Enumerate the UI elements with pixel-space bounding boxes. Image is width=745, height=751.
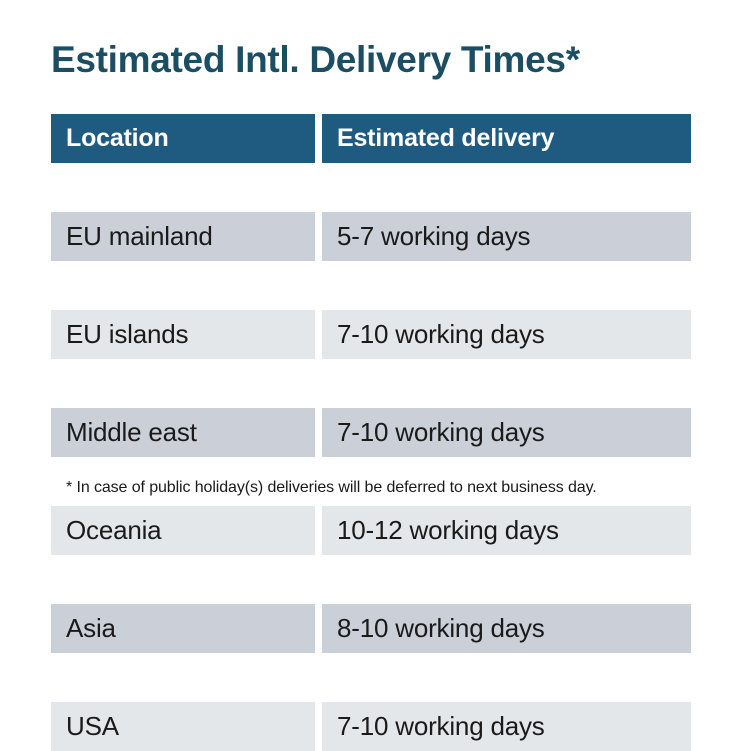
column-header-location-label: Location [51,124,315,153]
table-row: USA 7-10 working days [51,702,691,751]
row-gap-gutter [315,653,322,702]
row-gap-gutter [315,261,322,310]
table-cell-location-text: EU mainland [51,221,315,252]
table-cell-location-text: Middle east [51,417,315,448]
row-gutter [315,604,322,653]
column-gutter [315,114,322,163]
table-cell-delivery: 7-10 working days [322,702,691,751]
table-cell-delivery-text: 7-10 working days [322,711,691,742]
estimated-delivery-times-table: Location Estimated delivery EU mainland [51,114,691,751]
table-cell-delivery: 7-10 working days [322,310,691,359]
page-title: Estimated Intl. Delivery Times* [51,38,580,82]
table-cell-delivery-text: 7-10 working days [322,319,691,350]
table-cell-delivery: 10-12 working days [322,506,691,555]
table-row: Asia 8-10 working days [51,604,691,653]
table-cell-delivery: 7-10 working days [322,408,691,457]
table-cell-location: Oceania [51,506,315,555]
table-cell-location: USA [51,702,315,751]
row-gap-cell [322,653,691,702]
row-gap-gutter [315,555,322,604]
column-header-delivery: Estimated delivery [322,114,691,163]
row-gap-cell [322,163,691,212]
table-cell-location-text: EU islands [51,319,315,350]
row-gap-cell [51,555,315,604]
row-gap [51,359,691,408]
column-header-location: Location [51,114,315,163]
row-gap [51,653,691,702]
row-gutter [315,702,322,751]
table-cell-location-text: Asia [51,613,315,644]
row-gap-cell [51,261,315,310]
row-gap-cell [51,653,315,702]
table-cell-delivery: 8-10 working days [322,604,691,653]
table-row: EU mainland 5-7 working days [51,212,691,261]
table-cell-location-text: USA [51,711,315,742]
row-gap-cell [51,163,315,212]
table-cell-location: EU islands [51,310,315,359]
row-gap [51,555,691,604]
delivery-times-page: Estimated Intl. Delivery Times* Location… [0,0,745,536]
row-gutter [315,408,322,457]
row-gap-cell [322,555,691,604]
row-gap [51,163,691,212]
table-row: Oceania 10-12 working days [51,506,691,555]
row-gutter [315,212,322,261]
table-cell-delivery-text: 10-12 working days [322,515,691,546]
row-gap-cell [51,359,315,408]
table-row: Middle east 7-10 working days [51,408,691,457]
column-header-delivery-label: Estimated delivery [322,124,691,153]
table-row: EU islands 7-10 working days [51,310,691,359]
table-cell-location: Middle east [51,408,315,457]
table-cell-delivery: 5-7 working days [322,212,691,261]
table-cell-location: Asia [51,604,315,653]
row-gap-cell [322,359,691,408]
table-cell-delivery-text: 7-10 working days [322,417,691,448]
row-gap-cell [322,261,691,310]
table-cell-location: EU mainland [51,212,315,261]
row-gap-gutter [315,359,322,408]
table-cell-delivery-text: 5-7 working days [322,221,691,252]
row-gap [51,261,691,310]
row-gap-gutter [315,163,322,212]
footnote-text: * In case of public holiday(s) deliverie… [66,479,597,497]
row-gutter [315,506,322,555]
table-cell-location-text: Oceania [51,515,315,546]
table-header-row: Location Estimated delivery [51,114,691,163]
row-gutter [315,310,322,359]
table-cell-delivery-text: 8-10 working days [322,613,691,644]
